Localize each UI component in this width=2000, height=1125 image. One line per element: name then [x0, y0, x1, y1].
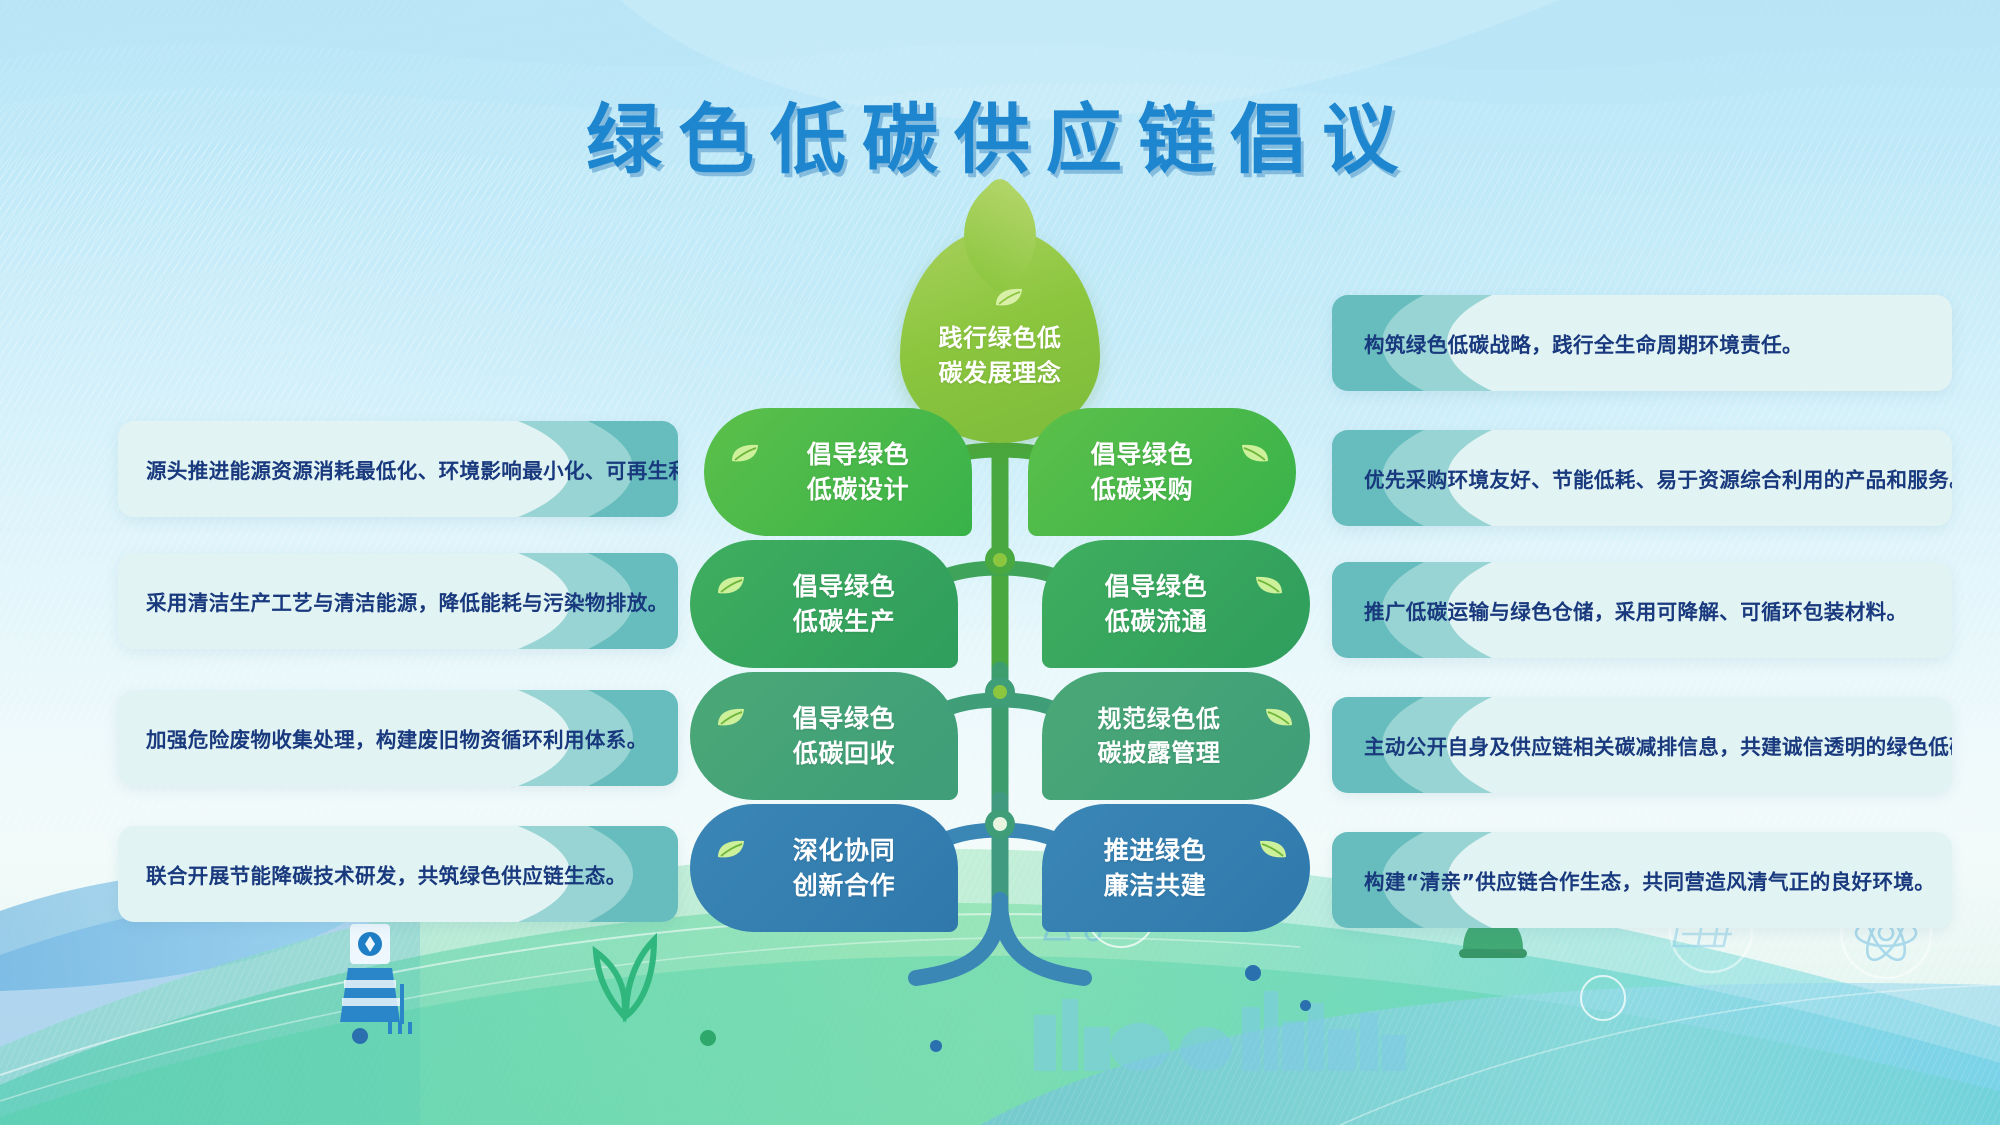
right-panel-1[interactable]: 构筑绿色低碳战略，践行全生命周期环境责任。: [1332, 295, 1952, 391]
right-panel-3-text: 推广低碳运输与绿色仓储，采用可降解、可循环包装材料。: [1364, 595, 1907, 625]
page-title: 绿色低碳供应链倡议: [0, 78, 2000, 188]
infographic-poster: 绿色低碳供应链倡议 源头推进能源资源消耗最低化、环境影响最小化、可再生利用最大化…: [0, 0, 2000, 1125]
tree-leaf-row1-left-label: 倡导绿色 低碳设计: [767, 437, 909, 508]
tree-leaf-row4-right-label: 推进绿色 廉洁共建: [1104, 833, 1248, 904]
tree-leaf-row4-right[interactable]: 推进绿色 廉洁共建: [1042, 804, 1310, 932]
left-panel-3[interactable]: 加强危险废物收集处理，构建废旧物资循环利用体系。: [118, 690, 678, 786]
tree-leaf-row2-right-label: 倡导绿色 低碳流通: [1105, 569, 1247, 640]
leaf-icon: [1254, 574, 1284, 596]
leaf-icon: [1258, 838, 1288, 860]
tree-leaf-row3-left[interactable]: 倡导绿色 低碳回收: [690, 672, 958, 800]
decor-node-dot: [700, 1030, 716, 1046]
tree-leaf-row2-right[interactable]: 倡导绿色 低碳流通: [1042, 540, 1310, 668]
right-panel-5[interactable]: 构建“清亲”供应链合作生态，共同营造风清气正的良好环境。: [1332, 832, 1952, 928]
tree-leaf-row4-left-label: 深化协同 创新合作: [753, 833, 895, 904]
left-panel-4[interactable]: 联合开展节能降碳技术研发，共筑绿色供应链生态。: [118, 826, 678, 922]
left-panel-1-text: 源头推进能源资源消耗最低化、环境影响最小化、可再生利用最大化。: [146, 454, 678, 484]
tree-leaf-row4-left[interactable]: 深化协同 创新合作: [690, 804, 958, 932]
left-panel-4-text: 联合开展节能降碳技术研发，共筑绿色供应链生态。: [146, 859, 627, 889]
left-panel-2-text: 采用清洁生产工艺与清洁能源，降低能耗与污染物排放。: [146, 586, 669, 616]
leaf-icon: [1240, 442, 1270, 464]
tree-leaf-row3-right-label: 规范绿色低 碳披露管理: [1098, 702, 1255, 770]
leaf-icon: [716, 706, 746, 728]
right-panel-1-text: 构筑绿色低碳战略，践行全生命周期环境责任。: [1364, 328, 1803, 358]
sprout-leaf-icon: [580, 930, 664, 1026]
tree-leaf-row3-left-label: 倡导绿色 低碳回收: [753, 701, 895, 772]
right-panel-3[interactable]: 推广低碳运输与绿色仓储，采用可降解、可循环包装材料。: [1332, 562, 1952, 658]
center-tree-diagram: 践行绿色低 碳发展理念 倡导绿色 低碳设计 倡导绿色 低碳采购: [690, 200, 1310, 990]
right-panel-5-text: 构建“清亲”供应链合作生态，共同营造风清气正的良好环境。: [1364, 865, 1935, 895]
leaf-icon: [1264, 706, 1294, 728]
right-panel-4-text: 主动公开自身及供应链相关碳减排信息，共建诚信透明的绿色低碳生态。: [1364, 730, 1952, 760]
tree-leaf-row1-right-label: 倡导绿色 低碳采购: [1091, 437, 1233, 508]
leaf-icon: [716, 574, 746, 596]
left-panel-3-text: 加强危险废物收集处理，构建废旧物资循环利用体系。: [146, 723, 648, 753]
decor-node-dot: [930, 1040, 942, 1052]
leaf-icon: [730, 442, 760, 464]
tree-leaf-row3-right[interactable]: 规范绿色低 碳披露管理: [1042, 672, 1310, 800]
decor-node-dot: [352, 1028, 368, 1044]
leaf-icon: [716, 838, 746, 860]
right-panel-2-text: 优先采购环境友好、节能低耗、易于资源综合利用的产品和服务。: [1364, 463, 1952, 493]
left-panel-2[interactable]: 采用清洁生产工艺与清洁能源，降低能耗与污染物排放。: [118, 553, 678, 649]
factory-cooling-tower-icon: [328, 918, 420, 1036]
right-panel-4[interactable]: 主动公开自身及供应链相关碳减排信息，共建诚信透明的绿色低碳生态。: [1332, 697, 1952, 793]
decor-node-dot: [1300, 1000, 1311, 1011]
right-panel-2[interactable]: 优先采购环境友好、节能低耗、易于资源综合利用的产品和服务。: [1332, 430, 1952, 526]
decor-ring: [1580, 975, 1626, 1021]
tree-leaf-row2-left-label: 倡导绿色 低碳生产: [753, 569, 895, 640]
left-panel-1[interactable]: 源头推进能源资源消耗最低化、环境影响最小化、可再生利用最大化。: [118, 421, 678, 517]
tree-leaf-row1-right[interactable]: 倡导绿色 低碳采购: [1028, 408, 1296, 536]
tree-leaf-row1-left[interactable]: 倡导绿色 低碳设计: [704, 408, 972, 536]
leaf-icon: [994, 286, 1024, 308]
tree-leaf-row2-left[interactable]: 倡导绿色 低碳生产: [690, 540, 958, 668]
